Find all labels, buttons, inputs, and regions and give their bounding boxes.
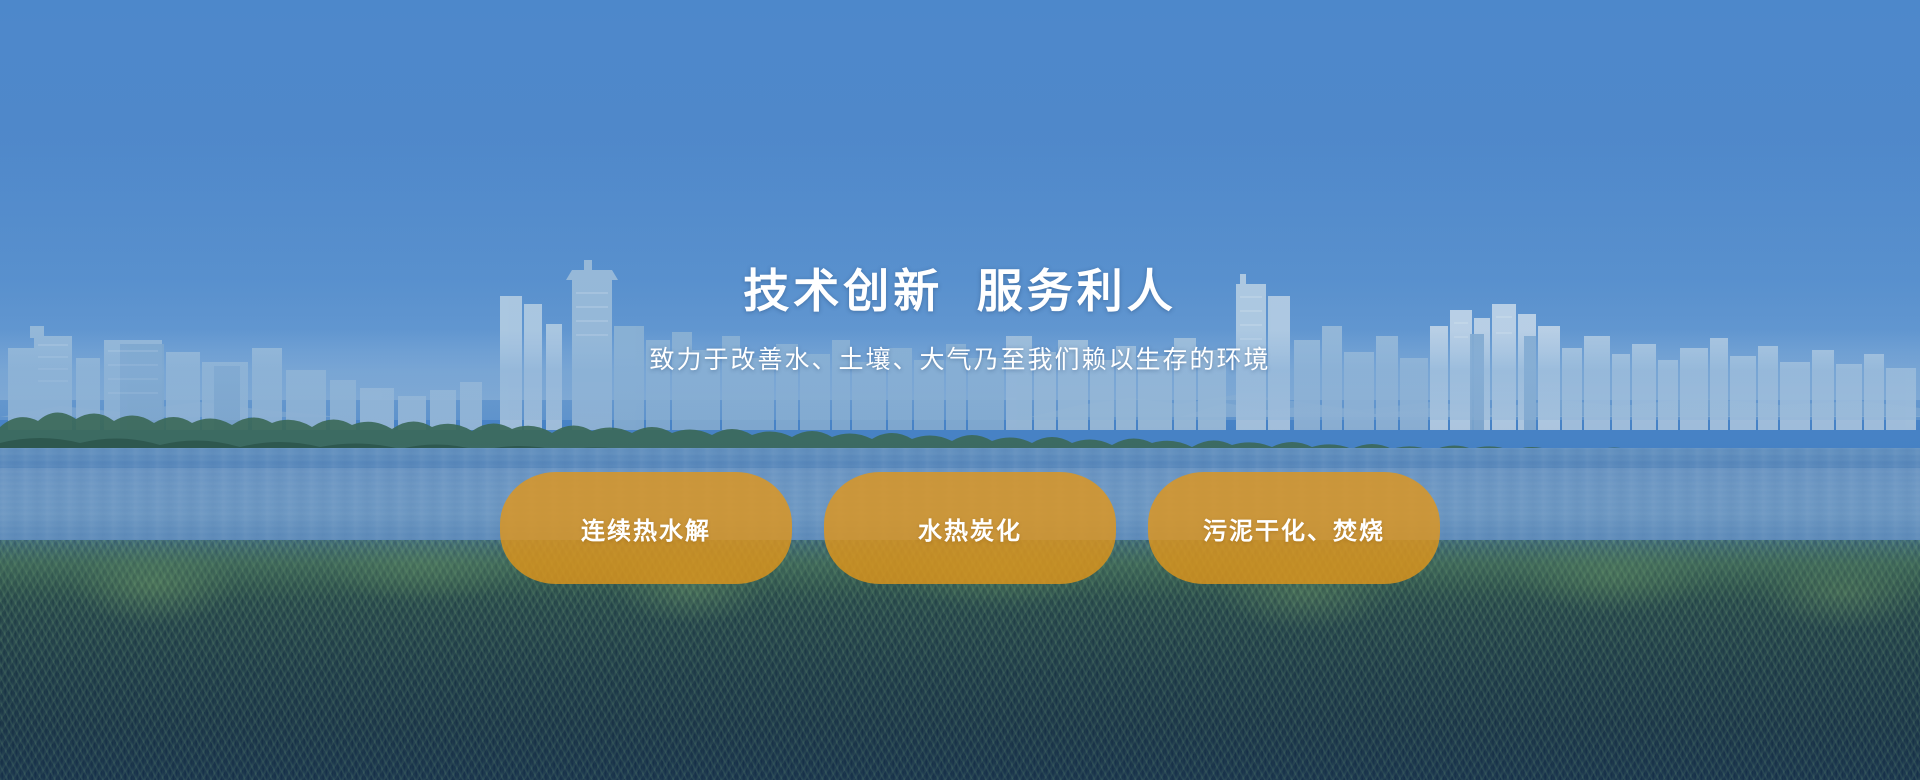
hero-button-hydrothermal-carbonization[interactable]: 水热炭化: [824, 472, 1116, 584]
hero-button-sludge-drying-incineration[interactable]: 污泥干化、焚烧: [1148, 472, 1440, 584]
hero-subheadline: 致力于改善水、土壤、大气乃至我们赖以生存的环境: [0, 344, 1920, 377]
hero-banner: 技术创新 服务利人 致力于改善水、土壤、大气乃至我们赖以生存的环境 连续热水解 …: [0, 0, 1920, 780]
hero-content: 技术创新 服务利人 致力于改善水、土壤、大气乃至我们赖以生存的环境 连续热水解 …: [0, 0, 1920, 780]
hero-button-row: 连续热水解 水热炭化 污泥干化、焚烧: [500, 472, 1440, 584]
hero-button-continuous-thermal-hydrolysis[interactable]: 连续热水解: [500, 472, 792, 584]
hero-headline: 技术创新 服务利人: [0, 264, 1920, 319]
